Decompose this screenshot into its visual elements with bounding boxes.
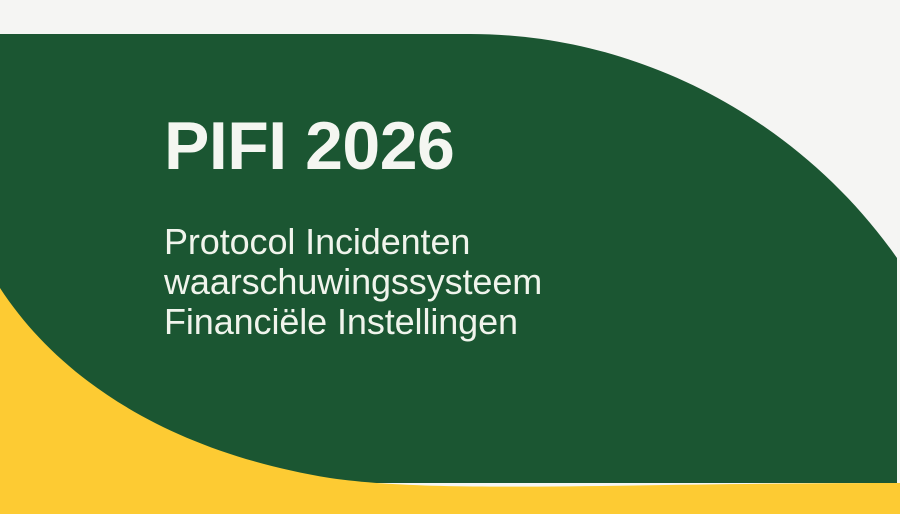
page-subtitle-line-3: Financiële Instellingen [164, 302, 784, 342]
page-subtitle-line-2: waarschuwingssysteem [164, 262, 784, 302]
page-subtitle: Protocol Incidenten waarschuwingssysteem… [164, 180, 784, 342]
cover-text-block: PIFI 2026 Protocol Incidenten waarschuwi… [164, 112, 784, 342]
page-title: PIFI 2026 [164, 112, 784, 180]
report-cover: PIFI 2026 Protocol Incidenten waarschuwi… [0, 0, 900, 514]
page-subtitle-line-1: Protocol Incidenten [164, 222, 784, 262]
